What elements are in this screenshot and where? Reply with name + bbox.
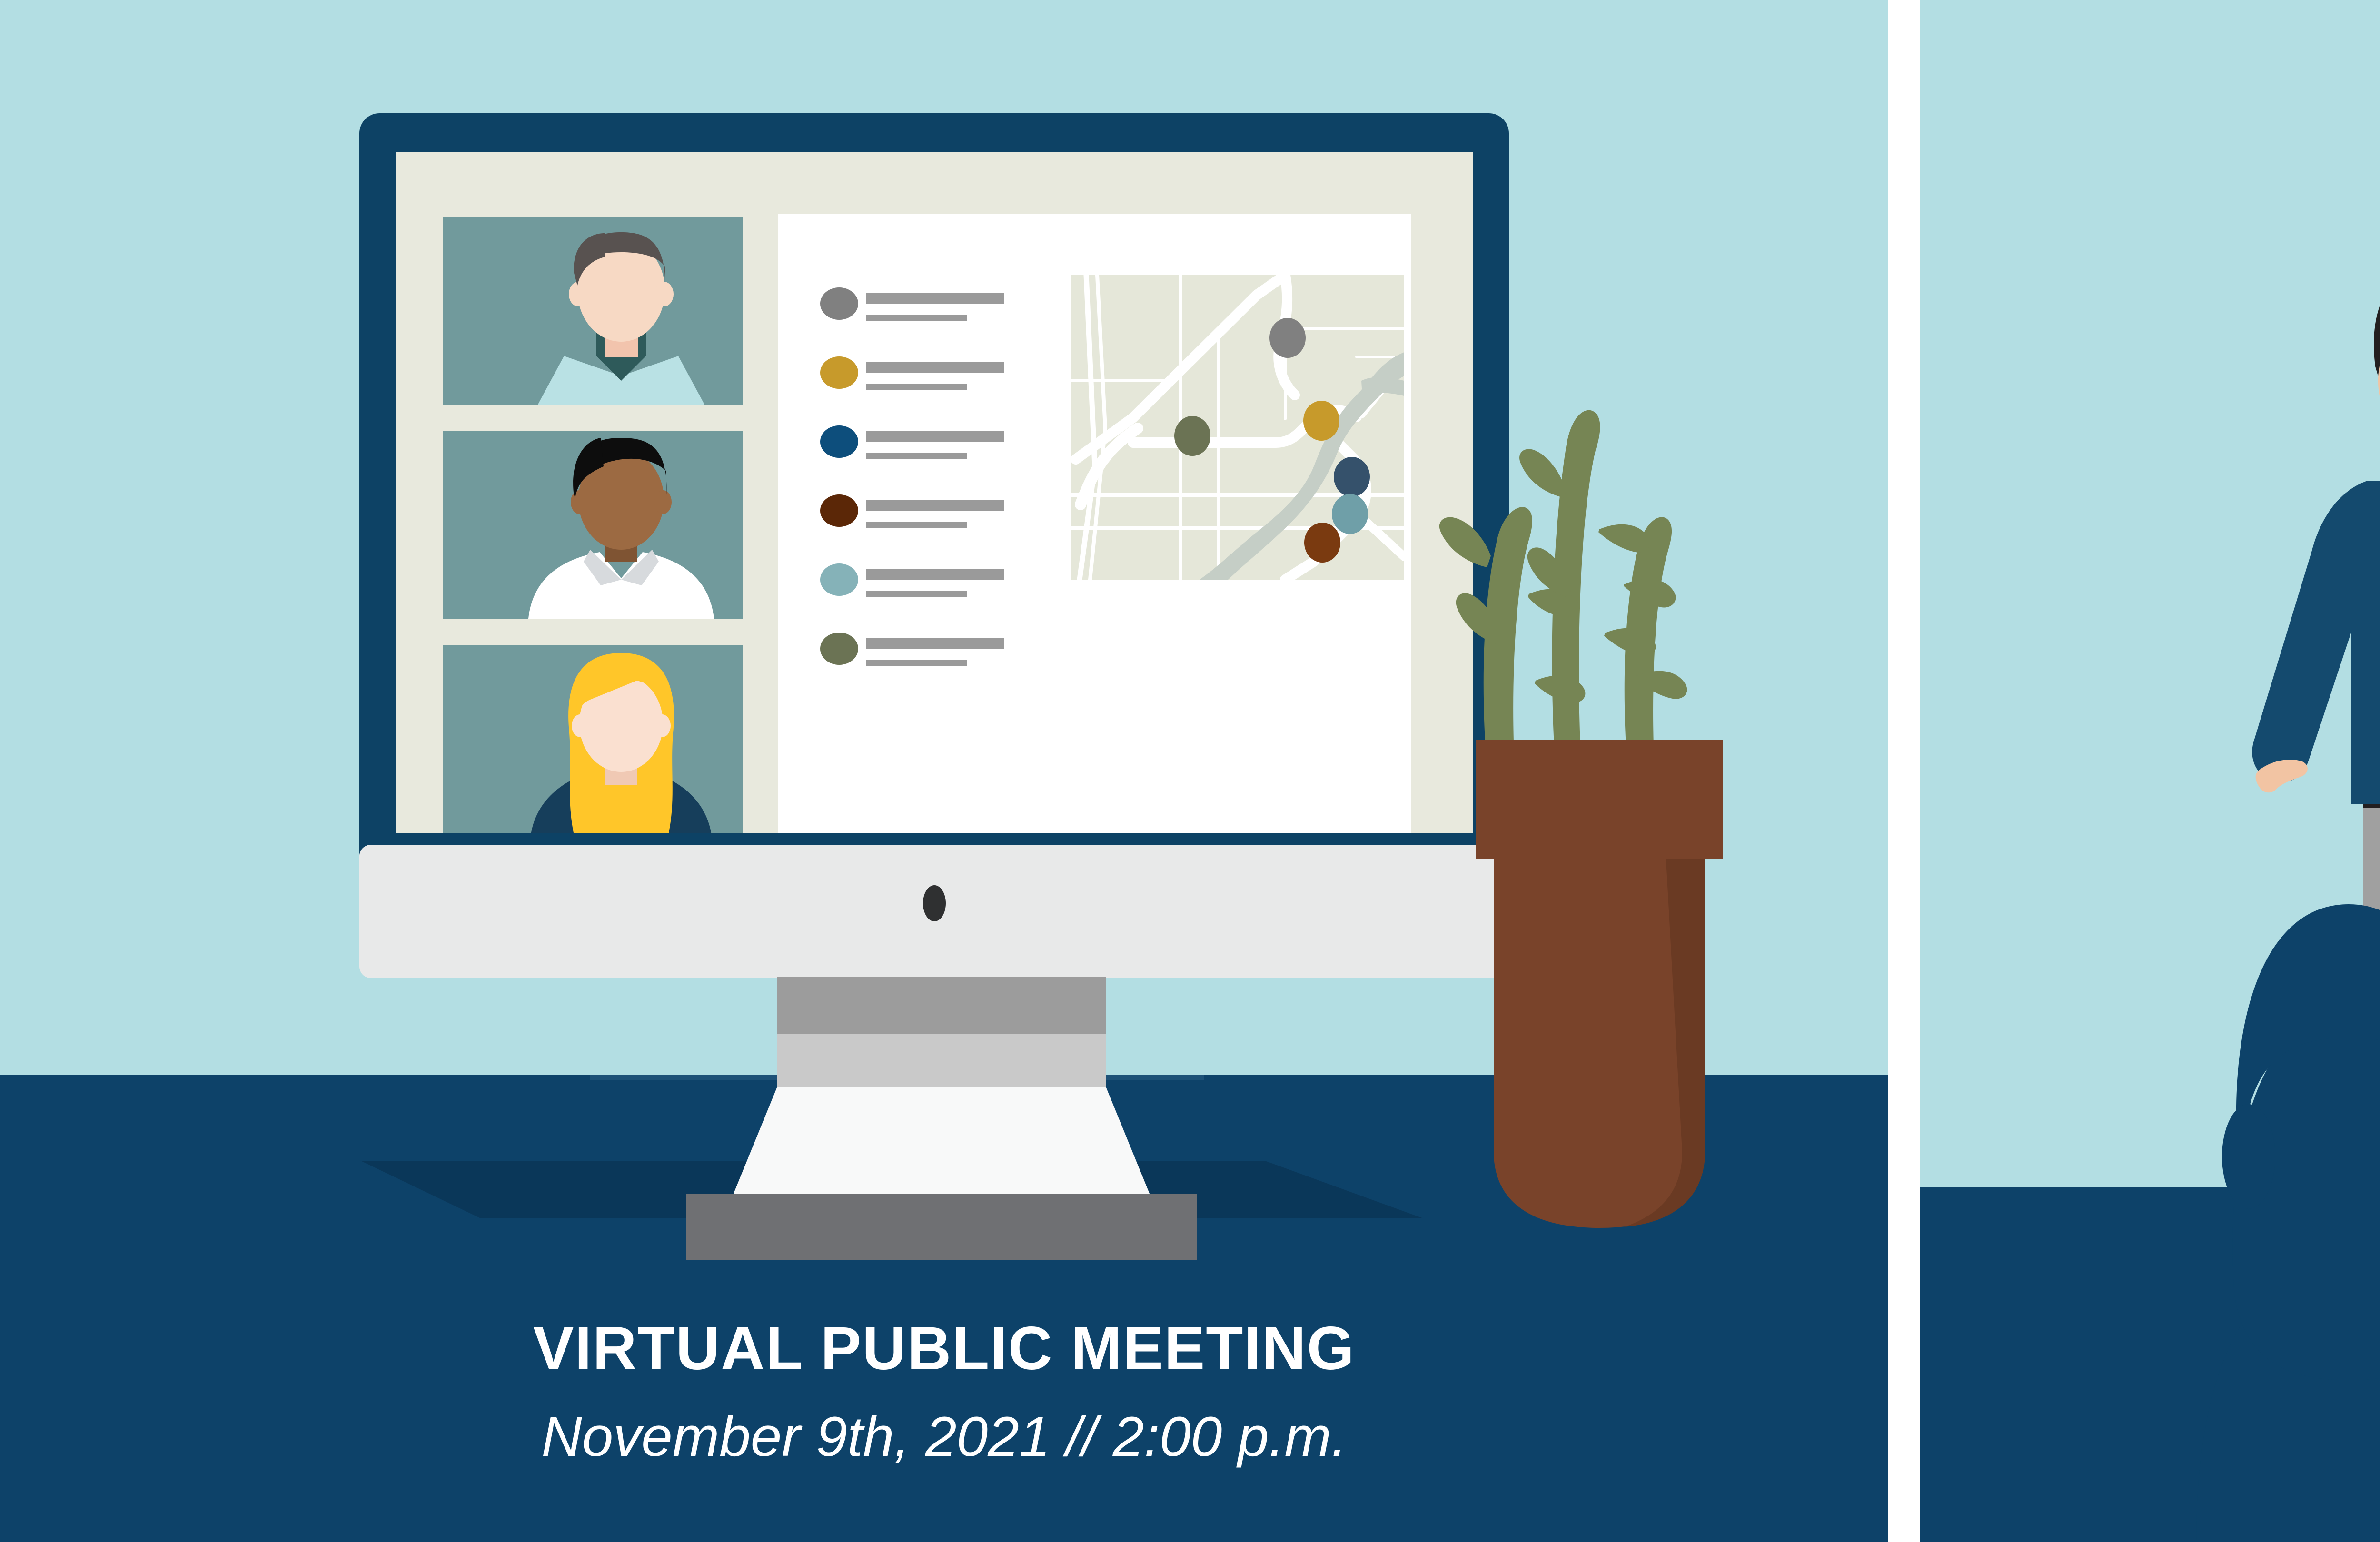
legend-bar-primary bbox=[866, 431, 1004, 442]
participant-1-ear-right bbox=[654, 282, 674, 306]
map-pin-olive bbox=[1174, 416, 1210, 456]
left-scene-svg bbox=[0, 0, 1888, 1542]
legend-dot-3 bbox=[820, 425, 858, 458]
participant-1-ear-left bbox=[569, 282, 588, 306]
legend-bar-secondary bbox=[866, 522, 967, 528]
panel-gutter-divider bbox=[1888, 0, 1920, 1542]
legend-dot-5 bbox=[820, 563, 858, 596]
left-caption-subtitle: November 9th, 2021 // 2:00 p.m. bbox=[0, 1409, 1888, 1465]
legend-dot-2 bbox=[820, 356, 858, 389]
map-pin-teal bbox=[1332, 494, 1368, 534]
legend-bar-primary bbox=[866, 638, 1004, 649]
left-caption-title-wrap: VIRTUAL PUBLIC MEETING bbox=[0, 1318, 1888, 1379]
legend-bar-secondary bbox=[866, 660, 967, 666]
legend-dot-1 bbox=[820, 287, 858, 320]
screen-map[interactable] bbox=[1071, 275, 1404, 580]
legend-bar-primary bbox=[866, 500, 1004, 511]
plant-pot-rim bbox=[1476, 740, 1723, 859]
map-pin-brown bbox=[1304, 523, 1340, 563]
legend-dot-4 bbox=[820, 494, 858, 527]
map-pin-gold bbox=[1303, 401, 1339, 441]
right-scene-svg bbox=[1920, 0, 2380, 1542]
participant-3-ear-left bbox=[572, 714, 589, 737]
video-tile-participant-3[interactable] bbox=[443, 645, 743, 835]
right-caption-subtitle-wrap: November 9th, 2021 // 5:30-7:30 p.m. bbox=[1920, 1409, 2380, 1465]
right-caption-title-wrap: IN-PERSON OPEN HOUSE bbox=[1920, 1318, 2380, 1379]
monitor-base-foot bbox=[686, 1194, 1197, 1260]
left-caption-title: VIRTUAL PUBLIC MEETING bbox=[0, 1318, 1888, 1379]
panel-in-person-open-house: IN-PERSON OPEN HOUSE November 9th, 2021 … bbox=[1920, 0, 2380, 1542]
legend-bar-primary bbox=[866, 569, 1004, 580]
participant-3-ear-right bbox=[654, 714, 671, 737]
panel-virtual-public-meeting: VIRTUAL PUBLIC MEETING November 9th, 202… bbox=[0, 0, 1888, 1542]
illustration-canvas: VIRTUAL PUBLIC MEETING November 9th, 202… bbox=[0, 0, 2380, 1542]
video-tile-participant-1[interactable] bbox=[443, 217, 743, 405]
map-pin-slate bbox=[1334, 457, 1370, 497]
monitor-stand-mid bbox=[777, 1034, 1106, 1087]
monitor-camera-icon bbox=[923, 885, 946, 921]
right-caption-title: IN-PERSON OPEN HOUSE bbox=[1920, 1318, 2380, 1379]
video-tiles bbox=[443, 217, 743, 835]
left-caption-subtitle-wrap: November 9th, 2021 // 2:00 p.m. bbox=[0, 1409, 1888, 1465]
legend-bar-primary bbox=[866, 362, 1004, 373]
video-tile-participant-2[interactable] bbox=[443, 431, 743, 619]
monitor-stand-base bbox=[734, 1087, 1150, 1194]
participant-2-ear-right bbox=[654, 490, 672, 514]
right-caption-subtitle: November 9th, 2021 // 5:30-7:30 p.m. bbox=[1920, 1409, 2380, 1465]
map-pin-gray bbox=[1269, 318, 1306, 358]
participant-2-ear-left bbox=[571, 490, 588, 514]
monitor-stand-upper bbox=[777, 977, 1106, 1034]
legend-bar-primary bbox=[866, 293, 1004, 304]
legend-bar-secondary bbox=[866, 591, 967, 597]
legend-bar-secondary bbox=[866, 315, 967, 321]
legend-bar-secondary bbox=[866, 384, 967, 390]
legend-dot-6 bbox=[820, 633, 858, 665]
legend-bar-secondary bbox=[866, 453, 967, 459]
